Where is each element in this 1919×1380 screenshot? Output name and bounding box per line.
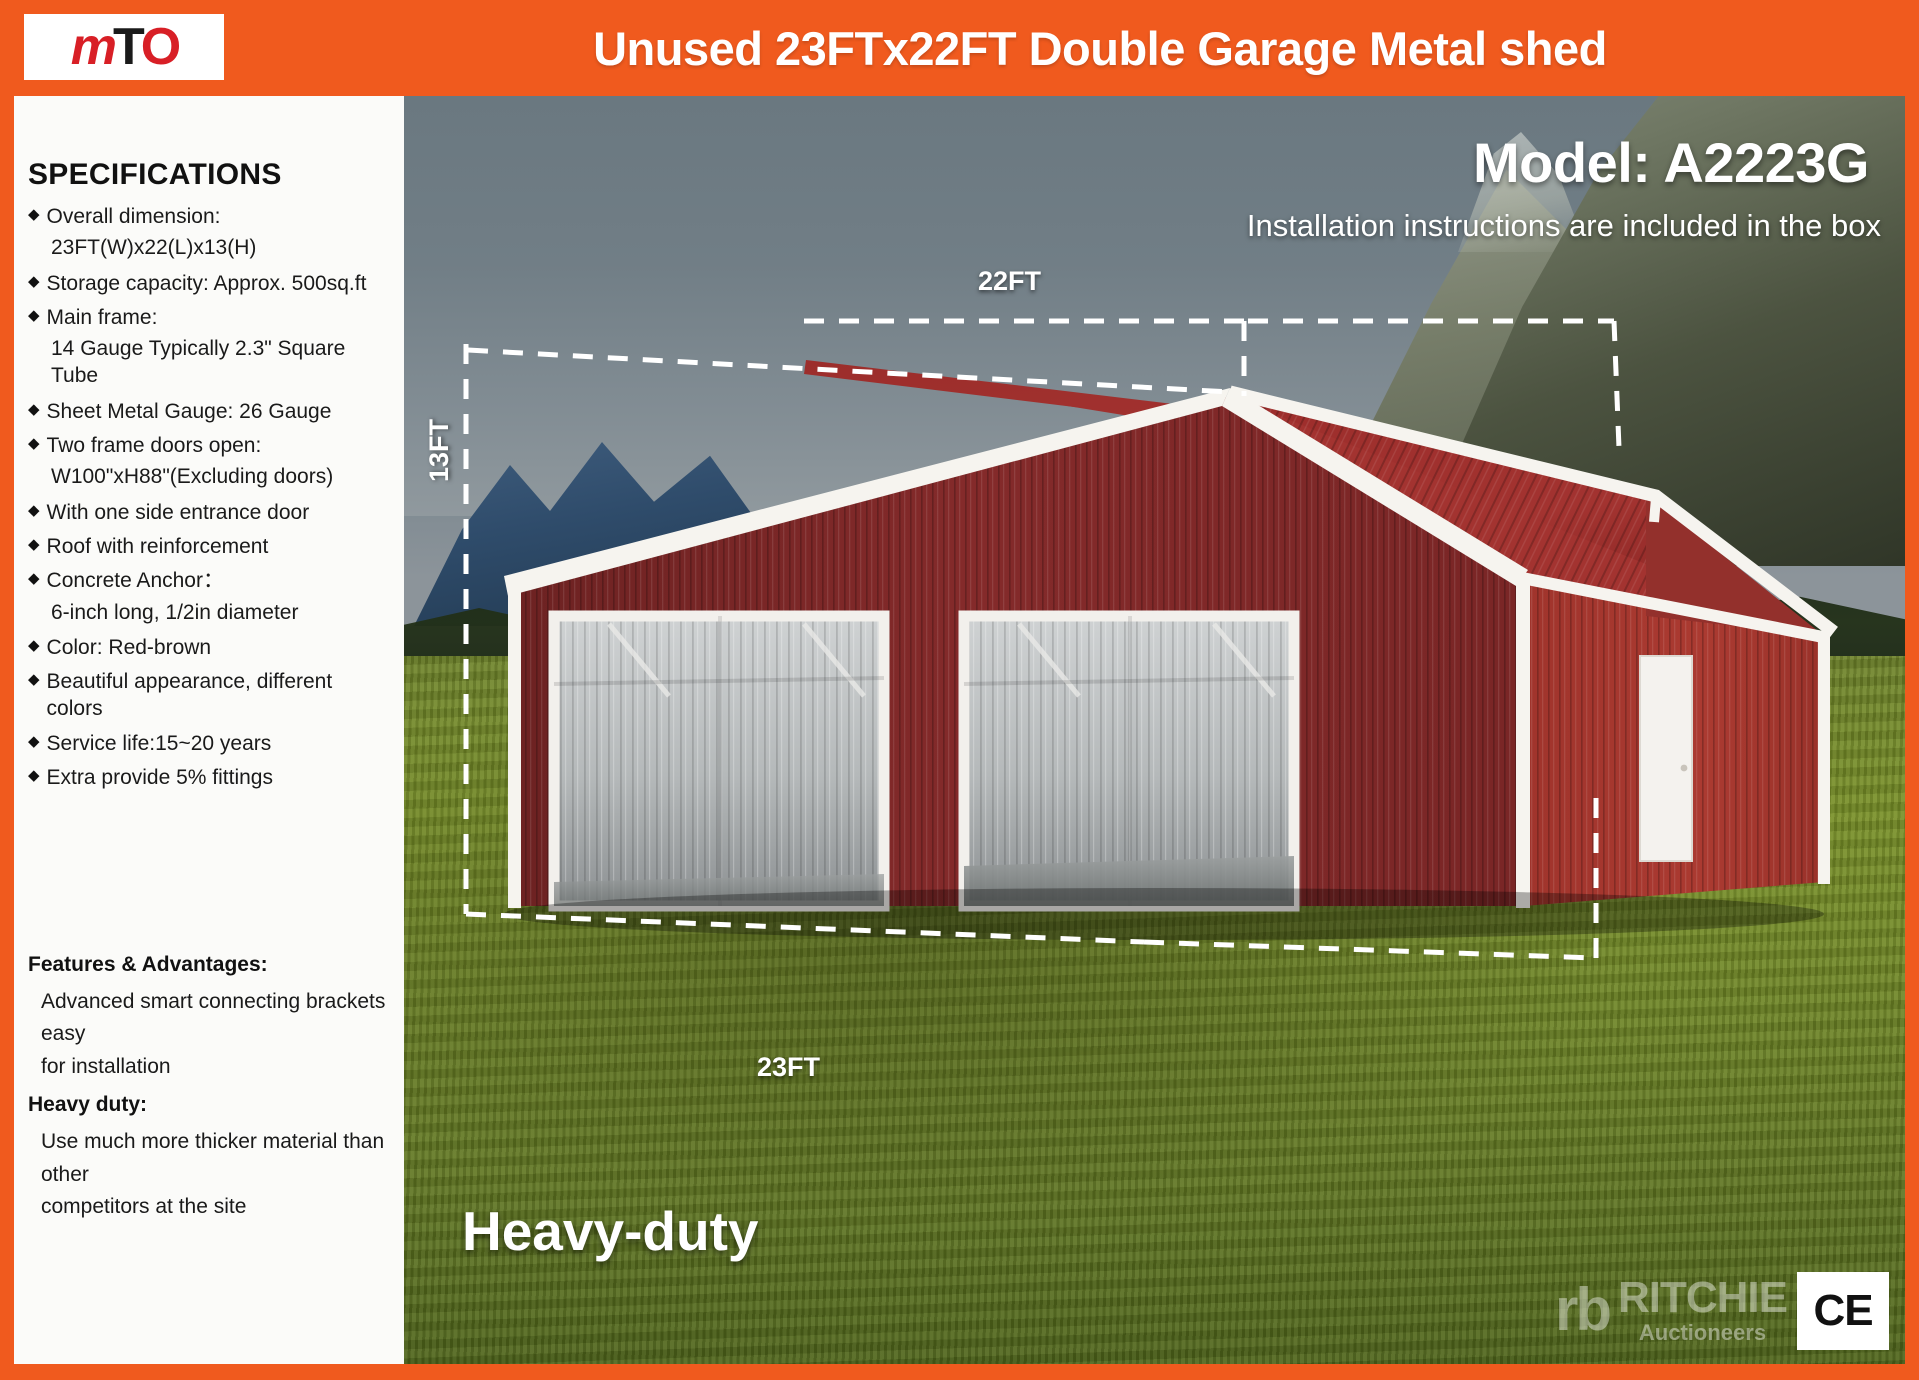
diamond-bullet-icon: ◆: [28, 499, 40, 522]
spec-sub-0: 23FT(W)x22(L)x13(H): [51, 234, 394, 261]
spec-label: Concrete Anchor：: [47, 567, 224, 594]
watermark-subtitle: Auctioneers: [1618, 1322, 1787, 1344]
spec-label: Extra provide 5% fittings: [47, 764, 273, 791]
spec-label: With one side entrance door: [47, 499, 310, 526]
spec-row: ◆ Extra provide 5% fittings: [28, 764, 394, 791]
logo-letter-m: m: [71, 21, 113, 73]
diamond-bullet-icon: ◆: [28, 270, 40, 293]
diamond-bullet-icon: ◆: [28, 432, 40, 455]
heavy-duty-body-line-1: Use much more thicker material than othe…: [41, 1126, 400, 1191]
diamond-bullet-icon: ◆: [28, 730, 40, 753]
spec-sub-4: W100"xH88"(Excluding doors): [51, 463, 394, 490]
rb-logo-icon: rb: [1555, 1286, 1609, 1334]
heavy-duty-body-line-2: competitors at the site: [41, 1191, 400, 1224]
spec-label: Color: Red-brown: [47, 634, 212, 661]
features-body-line-2: for installation: [41, 1051, 400, 1084]
spec-row: ◆ Roof with reinforcement: [28, 533, 394, 560]
spec-row: ◆ With one side entrance door: [28, 499, 394, 526]
dimension-label-width: 22FT: [978, 266, 1041, 297]
spec-row: ◆ Service life:15~20 years: [28, 730, 394, 757]
specifications-heading: SPECIFICATIONS: [28, 158, 394, 192]
spec-row: ◆ Two frame doors open:: [28, 432, 394, 459]
logo-letter-t: T: [113, 21, 141, 73]
spec-label: Service life:15~20 years: [47, 730, 272, 757]
watermark-brand: RITCHIE: [1618, 1276, 1787, 1320]
product-photo-scene: Model: A2223G Installation instructions …: [404, 96, 1905, 1364]
spec-label: Two frame doors open:: [47, 432, 262, 459]
brand-logo: mTO: [24, 14, 224, 80]
garage-illustration: [404, 96, 1905, 1364]
diamond-bullet-icon: ◆: [28, 634, 40, 657]
spec-row: ◆ Beautiful appearance, different colors: [28, 668, 394, 723]
ritchie-bros-watermark: rb RITCHIE Auctioneers: [1555, 1276, 1787, 1344]
features-advantages-block: Features & Advantages: Advanced smart co…: [28, 953, 400, 1224]
dimension-label-height: 13FT: [424, 419, 455, 482]
spec-label: Overall dimension:: [47, 203, 221, 230]
diamond-bullet-icon: ◆: [28, 764, 40, 787]
logo-letter-o: O: [141, 21, 177, 73]
page-title: Unused 23FTx22FT Double Garage Metal she…: [300, 0, 1900, 96]
dimension-label-depth: 23FT: [757, 1052, 820, 1083]
poster-body: SPECIFICATIONS ◆ Overall dimension: 23FT…: [14, 96, 1905, 1364]
spec-label: Roof with reinforcement: [47, 533, 269, 560]
diamond-bullet-icon: ◆: [28, 567, 40, 590]
spec-label: Storage capacity: Approx. 500sq.ft: [47, 270, 367, 297]
specifications-list: ◆ Overall dimension: 23FT(W)x22(L)x13(H)…: [28, 203, 394, 791]
diamond-bullet-icon: ◆: [28, 668, 40, 691]
ce-mark-badge: CE: [1797, 1272, 1889, 1350]
spec-row: ◆ Storage capacity: Approx. 500sq.ft: [28, 270, 394, 297]
diamond-bullet-icon: ◆: [28, 533, 40, 556]
diamond-bullet-icon: ◆: [28, 203, 40, 226]
specifications-panel: SPECIFICATIONS ◆ Overall dimension: 23FT…: [14, 96, 404, 1364]
spec-row: ◆ Main frame:: [28, 304, 394, 331]
diamond-bullet-icon: ◆: [28, 398, 40, 421]
spec-label: Beautiful appearance, different colors: [47, 668, 394, 723]
spec-row: ◆ Concrete Anchor：: [28, 567, 394, 594]
spec-label: Main frame:: [47, 304, 158, 331]
spec-row: ◆ Color: Red-brown: [28, 634, 394, 661]
product-poster: mTO Unused 23FTx22FT Double Garage Metal…: [0, 0, 1919, 1380]
features-body-line-1: Advanced smart connecting brackets easy: [41, 986, 400, 1051]
heavy-duty-heading: Heavy duty:: [28, 1093, 400, 1117]
spec-label: Sheet Metal Gauge: 26 Gauge: [47, 398, 332, 425]
heavy-duty-caption: Heavy-duty: [462, 1199, 758, 1263]
spec-sub-7: 6-inch long, 1/2in diameter: [51, 599, 394, 626]
watermark-text: RITCHIE Auctioneers: [1618, 1276, 1787, 1344]
spec-row: ◆ Overall dimension:: [28, 203, 394, 230]
poster-header: mTO Unused 23FTx22FT Double Garage Metal…: [0, 0, 1919, 96]
logo-mark: mTO: [71, 21, 177, 73]
diamond-bullet-icon: ◆: [28, 304, 40, 327]
spec-sub-2: 14 Gauge Typically 2.3" Square Tube: [51, 335, 394, 390]
features-heading: Features & Advantages:: [28, 953, 400, 977]
spec-row: ◆ Sheet Metal Gauge: 26 Gauge: [28, 398, 394, 425]
